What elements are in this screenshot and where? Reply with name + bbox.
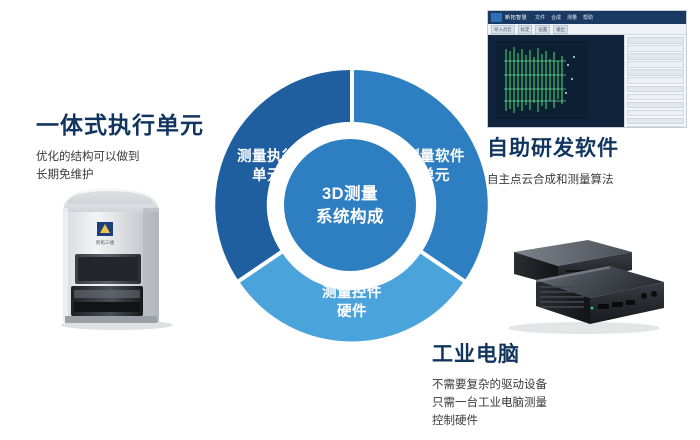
software-menu-item-3[interactable]: 帮助 bbox=[583, 14, 593, 21]
software-properties-panel[interactable] bbox=[624, 35, 686, 128]
panel-row bbox=[627, 102, 684, 109]
right-bottom-feature-block: 工业电脑 不需要复杂的驱动设备 只需一台工业电脑测量 控制硬件 bbox=[432, 338, 682, 430]
software-toolbar: 导入点云 标定 设置 输出 bbox=[488, 24, 686, 35]
left-feature-block: 一体式执行单元 优化的结构可以做到 长期免维护 bbox=[36, 106, 226, 185]
point-cloud-scan-render bbox=[496, 41, 588, 119]
donut-label-exec: 测量执行 单元 bbox=[221, 148, 313, 186]
right-bottom-feature-description: 不需要复杂的驱动设备 只需一台工业电脑测量 控制硬件 bbox=[432, 377, 682, 430]
panel-row bbox=[627, 94, 684, 101]
software-menu-item-0[interactable]: 文件 bbox=[535, 14, 545, 21]
scanner-unit-photo: 新拓三维 bbox=[47, 182, 187, 330]
donut-label-hardware: 测量控件 硬件 bbox=[302, 284, 402, 322]
right-bottom-feature-title: 工业电脑 bbox=[432, 338, 682, 368]
software-3d-viewport[interactable] bbox=[488, 35, 624, 128]
software-tool-2[interactable]: 设置 bbox=[535, 25, 550, 34]
donut-center-label: 3D测量 系统构成 bbox=[285, 183, 415, 230]
panel-row bbox=[627, 53, 684, 60]
software-screenshot: 新拓智慧 文件 合成 测量 帮助 导入点云 标定 设置 输出 bbox=[487, 10, 687, 128]
panel-row bbox=[627, 61, 684, 68]
panel-row bbox=[627, 77, 684, 84]
donut-label-software: 测量软件 单元 bbox=[389, 148, 481, 186]
software-titlebar: 新拓智慧 文件 合成 测量 帮助 bbox=[488, 11, 686, 24]
right-top-feature-title: 自助研发软件 bbox=[487, 132, 697, 162]
software-menubar: 文件 合成 测量 帮助 bbox=[535, 14, 593, 21]
software-tool-3[interactable]: 输出 bbox=[553, 25, 568, 34]
software-tool-1[interactable]: 标定 bbox=[518, 25, 533, 34]
right-top-feature-description: 自主点云合成和测量算法 bbox=[487, 172, 697, 190]
software-menu-item-2[interactable]: 测量 bbox=[567, 14, 577, 21]
donut-diagram: 测量执行 单元 测量软件 单元 测量控件 硬件 3D测量 系统构成 bbox=[207, 62, 493, 348]
software-tool-0[interactable]: 导入点云 bbox=[491, 25, 515, 34]
software-menu-item-1[interactable]: 合成 bbox=[551, 14, 561, 21]
svg-text:新拓三维: 新拓三维 bbox=[96, 239, 115, 246]
software-logo-icon bbox=[491, 13, 502, 22]
software-body bbox=[488, 35, 686, 128]
software-brand-label: 新拓智慧 bbox=[505, 14, 527, 21]
panel-row bbox=[627, 86, 684, 93]
left-feature-description: 优化的结构可以做到 长期免维护 bbox=[36, 149, 226, 185]
left-feature-title: 一体式执行单元 bbox=[36, 106, 226, 140]
industrial-pc-photo bbox=[492, 236, 670, 334]
panel-row bbox=[627, 110, 684, 117]
right-top-feature-block: 自助研发软件 自主点云合成和测量算法 bbox=[487, 132, 697, 190]
panel-row bbox=[627, 45, 684, 52]
panel-row bbox=[627, 69, 684, 76]
panel-row bbox=[627, 118, 684, 125]
panel-row bbox=[627, 37, 684, 44]
